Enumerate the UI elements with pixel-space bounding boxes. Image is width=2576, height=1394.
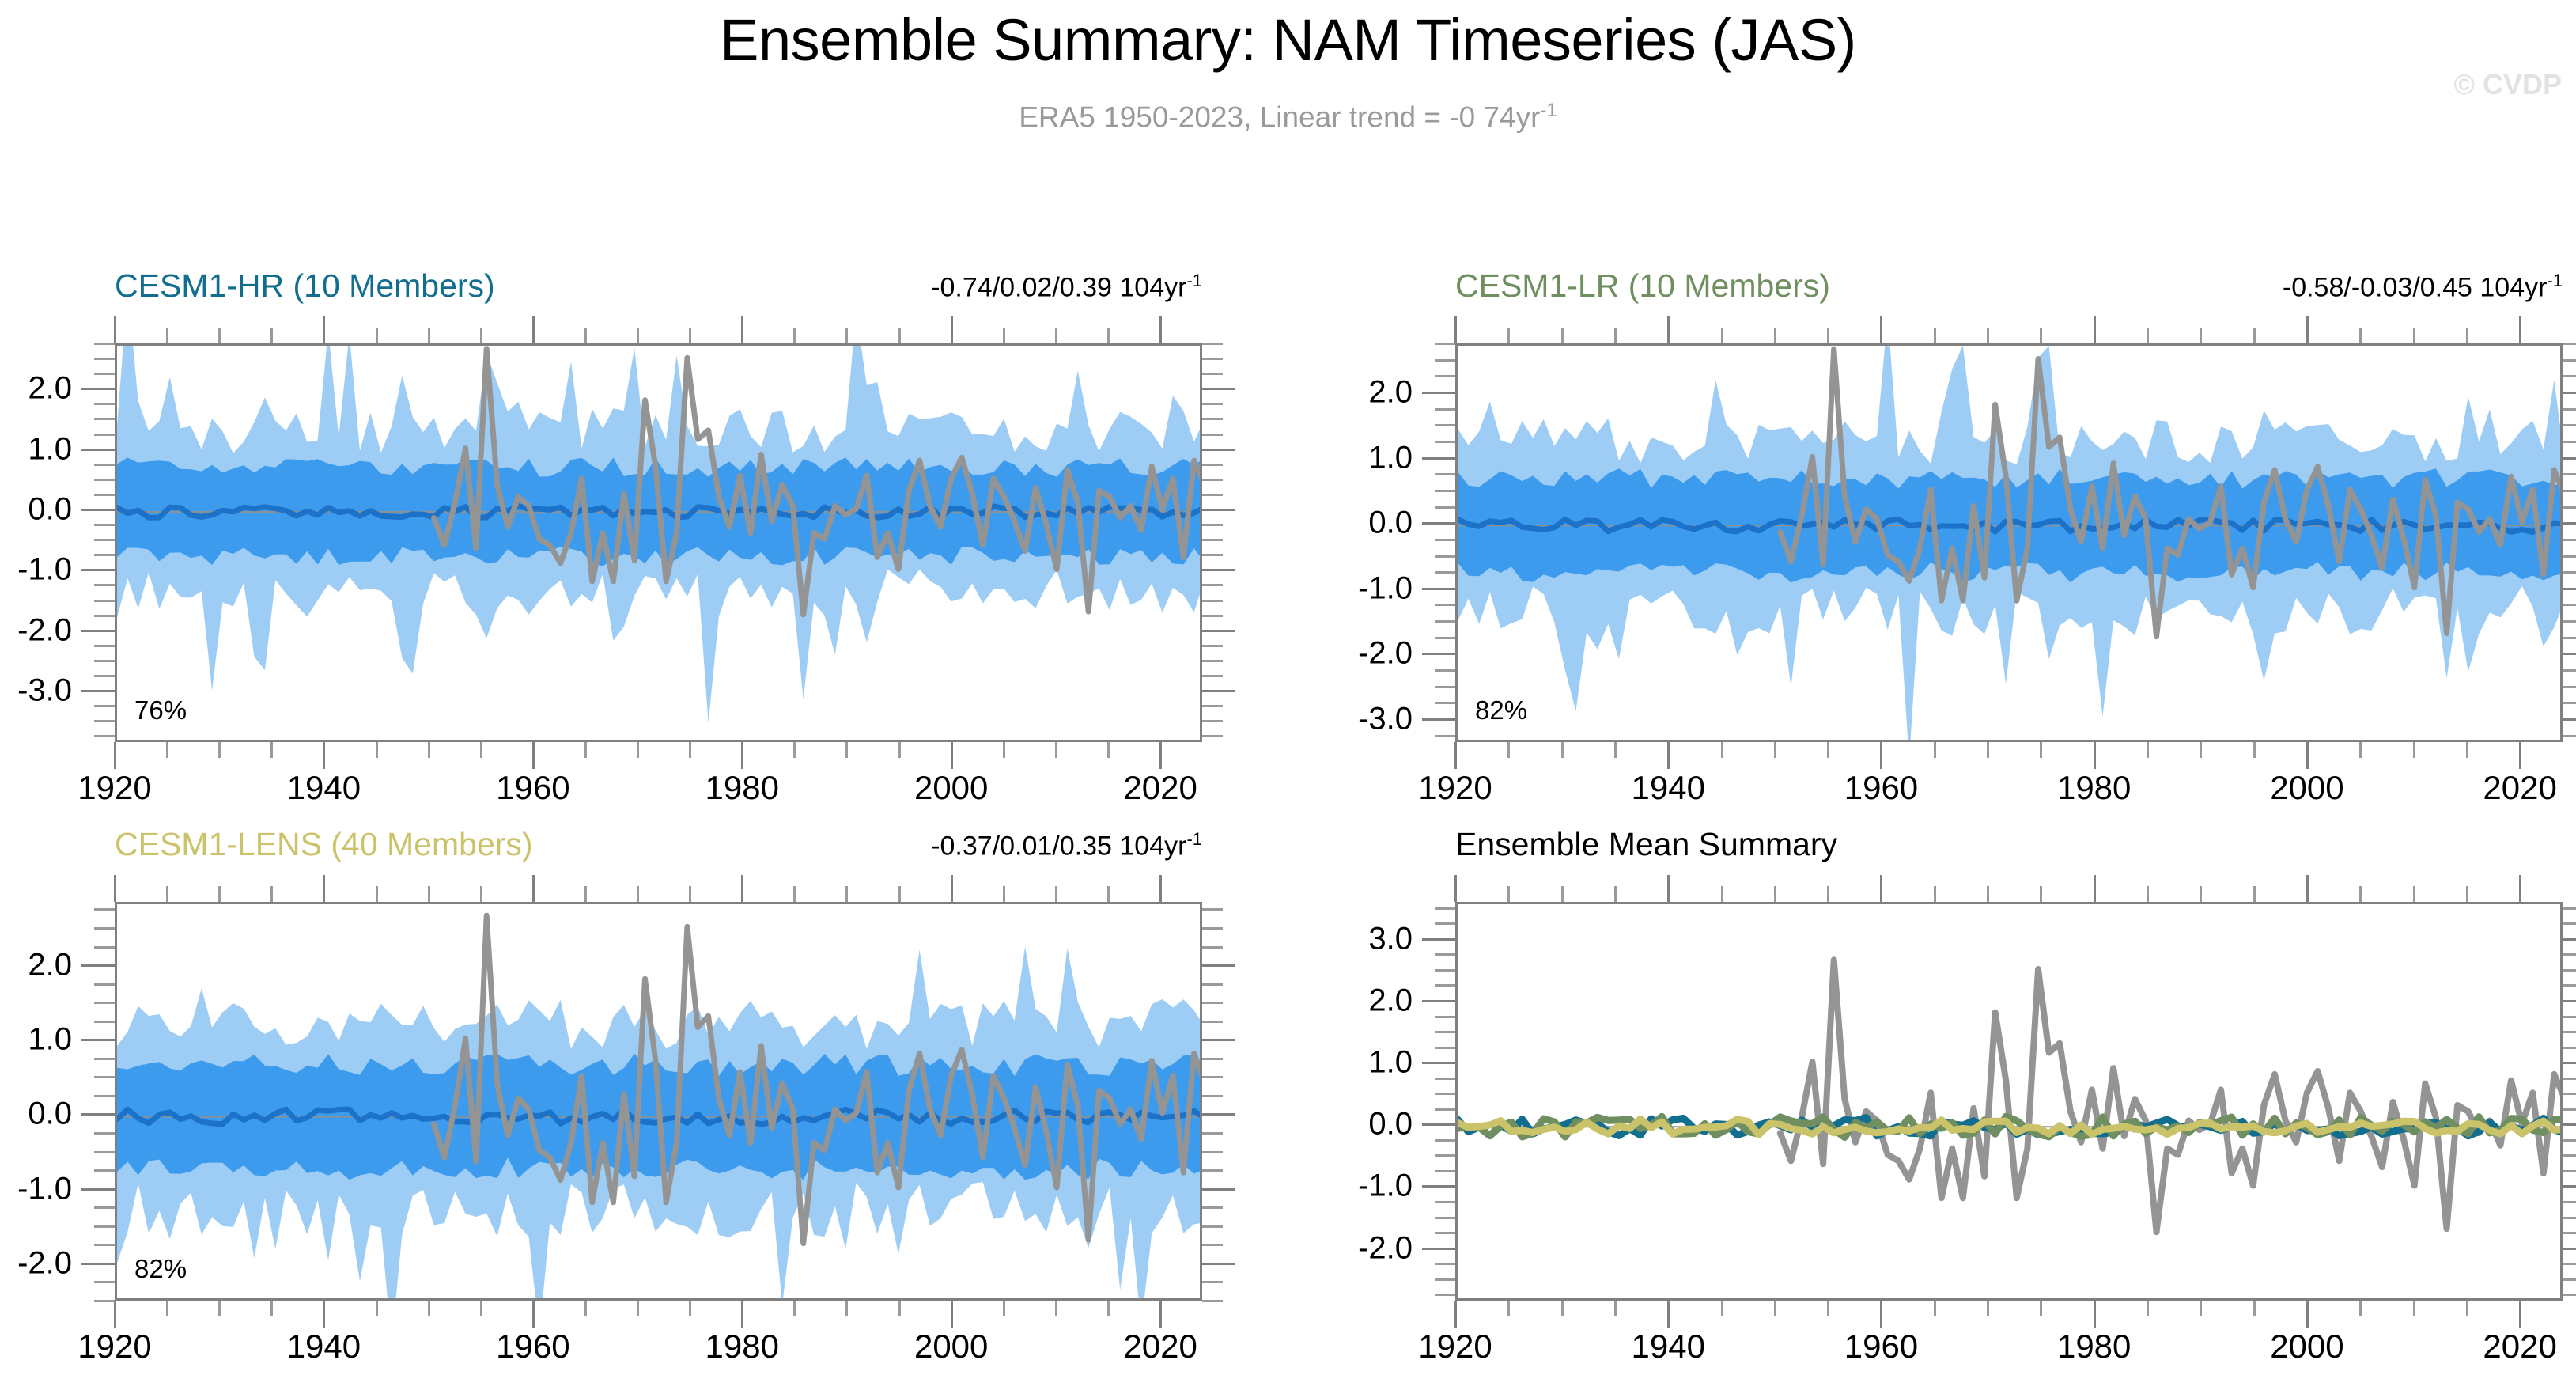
y-tick-label: 1.0 bbox=[1368, 1045, 1413, 1081]
y-tick-minor bbox=[94, 418, 115, 420]
x-tick-minor-top bbox=[2147, 328, 2149, 343]
x-tick-major-top bbox=[951, 316, 953, 343]
y-tick-minor bbox=[1435, 984, 1455, 987]
y-tick-minor-right bbox=[2563, 735, 2576, 737]
x-tick-minor bbox=[2253, 1301, 2256, 1316]
x-tick-minor-top bbox=[1561, 328, 1564, 343]
y-tick-minor-right bbox=[1202, 1058, 1223, 1060]
y-tick-major-right bbox=[1202, 1039, 1235, 1041]
y-tick-minor bbox=[94, 464, 115, 466]
x-axis-cesm1-hr: 192019401960198020002020 bbox=[115, 742, 1202, 821]
x-tick-major bbox=[532, 742, 535, 769]
y-tick-minor-right bbox=[1202, 373, 1223, 375]
y-tick-label: -2.0 bbox=[1358, 636, 1413, 672]
y-tick-major bbox=[1422, 1062, 1455, 1064]
plot-svg-cesm1-lens bbox=[117, 904, 1202, 1301]
y-axis-cesm1-lens: 2.01.00.0-1.0-2.0 bbox=[0, 902, 115, 1301]
y-tick-label: 3.0 bbox=[1368, 921, 1413, 956]
x-tick-minor-top bbox=[2413, 886, 2415, 902]
x-tick-major bbox=[323, 1301, 325, 1328]
y-tick-major-right bbox=[1202, 569, 1235, 571]
x-tick-label: 1920 bbox=[1418, 769, 1492, 807]
x-tick-major-top bbox=[323, 316, 325, 343]
y-tick-minor bbox=[1435, 571, 1455, 574]
y-tick-minor-right bbox=[2563, 620, 2576, 623]
y-tick-minor-right bbox=[2563, 907, 2576, 910]
x-tick-major bbox=[1880, 742, 1882, 769]
x-tick-minor-top bbox=[689, 328, 691, 343]
figure-subtitle-exponent: -1 bbox=[1540, 100, 1557, 121]
y-tick-minor bbox=[1435, 604, 1455, 606]
x-tick-minor-top bbox=[480, 328, 482, 343]
x-tick-minor-top bbox=[637, 886, 639, 902]
x-tick-minor bbox=[166, 1301, 168, 1316]
x-tick-minor-top bbox=[1055, 886, 1057, 902]
x-tick-minor bbox=[2147, 1301, 2149, 1316]
y-tick-minor-right bbox=[2563, 555, 2576, 558]
x-tick-major bbox=[1880, 1301, 1882, 1328]
y-tick-major-right bbox=[2563, 522, 2576, 525]
y-tick-major-right bbox=[2563, 1000, 2576, 1002]
y-tick-minor-right bbox=[1202, 464, 1223, 466]
x-tick-major-top bbox=[741, 875, 743, 902]
y-tick-major bbox=[1422, 457, 1455, 460]
y-tick-major-right bbox=[1202, 1113, 1235, 1116]
figure-title: Ensemble Summary: NAM Timeseries (JAS) bbox=[0, 6, 2576, 74]
x-axis-top-ensemble-mean-summary bbox=[1455, 873, 2563, 902]
y-tick-major-right bbox=[1202, 509, 1235, 511]
y-tick-minor bbox=[94, 645, 115, 647]
x-tick-minor bbox=[2466, 1301, 2468, 1316]
y-tick-minor-right bbox=[2563, 969, 2576, 972]
y-tick-minor bbox=[1435, 969, 1455, 972]
x-tick-minor bbox=[2147, 742, 2149, 758]
x-tick-major-top bbox=[1667, 875, 1670, 902]
x-tick-label: 1920 bbox=[78, 769, 151, 807]
x-tick-minor bbox=[898, 742, 901, 758]
x-tick-minor-top bbox=[2466, 886, 2468, 902]
x-tick-minor-top bbox=[218, 886, 221, 902]
y-tick-major-right bbox=[2563, 588, 2576, 590]
y-tick-major bbox=[81, 388, 115, 390]
panel-trend-cesm1-lens: -0.37/0.01/0.35 104yr-1 bbox=[931, 829, 1202, 862]
y-tick-minor-right bbox=[2563, 686, 2576, 688]
x-tick-minor bbox=[2040, 742, 2042, 758]
x-tick-minor bbox=[428, 742, 430, 758]
y-tick-minor bbox=[94, 908, 115, 911]
y-tick-minor bbox=[94, 675, 115, 677]
x-tick-label: 1920 bbox=[1418, 1328, 1492, 1366]
y-tick-label: 0.0 bbox=[1368, 506, 1413, 541]
y-tick-major bbox=[81, 630, 115, 632]
x-tick-major-top bbox=[1454, 875, 1457, 902]
y-axis-right-cesm1-hr bbox=[1202, 343, 1242, 742]
x-tick-minor-top bbox=[1987, 886, 1989, 902]
x-axis-ensemble-mean-summary: 192019401960198020002020 bbox=[1455, 1301, 2563, 1380]
x-tick-minor-top bbox=[1107, 886, 1110, 902]
y-tick-major bbox=[81, 690, 115, 692]
y-tick-minor bbox=[94, 615, 115, 617]
y-tick-major bbox=[1422, 653, 1455, 655]
y-tick-major bbox=[81, 449, 115, 451]
x-tick-major bbox=[2094, 1301, 2096, 1328]
y-tick-major bbox=[1422, 1248, 1455, 1250]
y-axis-right-cesm1-lens bbox=[1202, 902, 1242, 1301]
plot-svg-cesm1-hr bbox=[117, 346, 1202, 742]
obs-in-range-pct-cesm1-lr: 82% bbox=[1475, 695, 1527, 725]
y-tick-minor-right bbox=[1202, 1151, 1223, 1153]
x-tick-minor bbox=[1107, 742, 1110, 758]
x-tick-minor bbox=[1987, 1301, 1989, 1316]
x-tick-minor bbox=[1614, 1301, 1617, 1316]
y-tick-minor bbox=[1435, 1031, 1455, 1033]
y-tick-label: 2.0 bbox=[1368, 374, 1413, 410]
y-axis-right-ensemble-mean-summary bbox=[2563, 902, 2576, 1301]
x-tick-major bbox=[2519, 1301, 2521, 1328]
y-tick-minor bbox=[94, 600, 115, 602]
y-tick-minor-right bbox=[2563, 375, 2576, 377]
y-axis-cesm1-hr: 2.01.00.0-1.0-2.0-3.0 bbox=[0, 343, 115, 742]
y-tick-minor-right bbox=[1202, 343, 1223, 345]
x-tick-minor-top bbox=[1827, 886, 1829, 902]
y-tick-minor-right bbox=[2563, 1093, 2576, 1095]
x-tick-label: 1960 bbox=[496, 1328, 569, 1366]
y-tick-minor-right bbox=[1202, 418, 1223, 420]
y-tick-minor bbox=[94, 946, 115, 949]
y-tick-minor-right bbox=[2563, 1170, 2576, 1172]
x-tick-minor bbox=[2359, 1301, 2362, 1316]
y-tick-minor bbox=[94, 1002, 115, 1004]
x-tick-minor-top bbox=[428, 328, 430, 343]
y-tick-major-right bbox=[2563, 392, 2576, 394]
y-tick-minor-right bbox=[2563, 604, 2576, 606]
x-tick-major-top bbox=[323, 875, 325, 902]
x-tick-minor-top bbox=[1003, 886, 1005, 902]
x-tick-major bbox=[114, 742, 116, 769]
panel-trend-cesm1-lr: -0.58/-0.03/0.45 104yr-1 bbox=[2283, 271, 2563, 303]
x-tick-minor bbox=[1507, 1301, 1510, 1316]
x-tick-minor-top bbox=[1107, 328, 1110, 343]
y-tick-major bbox=[81, 569, 115, 571]
y-tick-minor-right bbox=[2563, 1108, 2576, 1111]
y-tick-major-right bbox=[2563, 457, 2576, 460]
x-tick-minor bbox=[845, 742, 848, 758]
y-tick-minor-right bbox=[2563, 490, 2576, 492]
y-tick-major bbox=[1422, 1185, 1455, 1188]
x-tick-minor bbox=[1614, 742, 1617, 758]
x-tick-minor bbox=[1774, 1301, 1776, 1316]
y-tick-minor-right bbox=[1202, 927, 1223, 930]
x-tick-minor bbox=[2200, 1301, 2202, 1316]
y-tick-major-right bbox=[1202, 388, 1235, 390]
x-tick-minor bbox=[689, 742, 691, 758]
observation-line-era5 bbox=[1780, 960, 2563, 1232]
x-tick-minor-top bbox=[1055, 328, 1057, 343]
y-tick-minor bbox=[94, 705, 115, 707]
x-tick-minor-top bbox=[584, 328, 587, 343]
y-tick-minor-right bbox=[2563, 637, 2576, 639]
y-tick-label: 0.0 bbox=[1368, 1107, 1413, 1142]
y-tick-minor bbox=[1435, 1232, 1455, 1234]
y-tick-minor bbox=[1435, 1139, 1455, 1142]
y-tick-label: 1.0 bbox=[28, 431, 72, 467]
y-tick-major-right bbox=[1202, 1263, 1235, 1265]
x-tick-minor-top bbox=[428, 886, 430, 902]
x-tick-minor-top bbox=[1721, 886, 1723, 902]
x-tick-label: 1980 bbox=[705, 769, 779, 807]
x-axis-top-cesm1-hr bbox=[115, 315, 1202, 343]
x-tick-label: 1920 bbox=[78, 1328, 151, 1366]
y-tick-minor bbox=[1435, 620, 1455, 623]
y-tick-minor bbox=[1435, 1170, 1455, 1172]
y-tick-minor-right bbox=[1202, 645, 1223, 647]
panel-trend-exponent: -1 bbox=[1186, 271, 1202, 290]
x-tick-major-top bbox=[1454, 316, 1457, 343]
x-tick-label: 1960 bbox=[1844, 769, 1918, 807]
y-tick-minor-right bbox=[1202, 1002, 1223, 1004]
y-tick-minor-right bbox=[2563, 669, 2576, 672]
y-axis-cesm1-lr: 2.01.00.0-1.0-2.0-3.0 bbox=[1337, 343, 1455, 742]
x-tick-minor bbox=[1827, 742, 1829, 758]
y-tick-major bbox=[81, 509, 115, 511]
y-tick-minor bbox=[94, 720, 115, 722]
y-tick-minor bbox=[1435, 408, 1455, 411]
x-tick-minor-top bbox=[845, 886, 848, 902]
y-tick-minor bbox=[1435, 1047, 1455, 1049]
panel-title-cesm1-hr: CESM1-HR (10 Members) bbox=[115, 267, 495, 305]
y-tick-minor bbox=[1435, 539, 1455, 541]
x-tick-major-top bbox=[1667, 316, 1670, 343]
cvdp-watermark: © CVDP bbox=[2453, 68, 2562, 101]
y-tick-major-right bbox=[2563, 653, 2576, 655]
panel-title-cesm1-lens: CESM1-LENS (40 Members) bbox=[115, 826, 533, 863]
y-tick-minor-right bbox=[2563, 1154, 2576, 1157]
y-tick-minor bbox=[94, 1300, 115, 1302]
panel-trend-value: -0.74/0.02/0.39 104yr bbox=[931, 272, 1186, 302]
x-tick-label: 1940 bbox=[1632, 1328, 1705, 1366]
y-tick-minor-right bbox=[1202, 358, 1223, 360]
y-tick-label: 0.0 bbox=[28, 492, 72, 528]
y-tick-minor bbox=[1435, 441, 1455, 443]
y-tick-minor-right bbox=[2563, 408, 2576, 411]
x-tick-major-top bbox=[1159, 875, 1162, 902]
x-tick-label: 2000 bbox=[914, 769, 988, 807]
x-tick-major-top bbox=[532, 316, 535, 343]
x-tick-major-top bbox=[2519, 316, 2521, 343]
y-tick-minor-right bbox=[1202, 705, 1223, 707]
y-tick-minor-right bbox=[2563, 1278, 2576, 1281]
y-tick-minor bbox=[94, 983, 115, 986]
x-tick-minor bbox=[1934, 1301, 1936, 1316]
x-tick-minor-top bbox=[1774, 886, 1776, 902]
y-tick-major bbox=[1422, 1123, 1455, 1126]
y-tick-label: -3.0 bbox=[17, 673, 72, 709]
y-axis-right-cesm1-lr bbox=[2563, 343, 2576, 742]
x-tick-major-top bbox=[2306, 316, 2309, 343]
x-tick-minor bbox=[1987, 742, 1989, 758]
x-tick-minor bbox=[218, 742, 221, 758]
x-tick-major bbox=[2306, 1301, 2309, 1328]
y-tick-minor-right bbox=[2563, 1031, 2576, 1033]
x-tick-minor-top bbox=[689, 886, 691, 902]
x-tick-major-top bbox=[114, 875, 116, 902]
y-tick-label: 1.0 bbox=[28, 1022, 72, 1058]
x-tick-minor-top bbox=[1827, 328, 1829, 343]
x-tick-label: 2020 bbox=[2483, 1328, 2556, 1366]
x-tick-minor bbox=[1003, 742, 1005, 758]
y-tick-major-right bbox=[2563, 1185, 2576, 1188]
x-axis-cesm1-lr: 192019401960198020002020 bbox=[1455, 742, 2563, 821]
x-tick-minor-top bbox=[898, 886, 901, 902]
x-tick-minor bbox=[584, 742, 587, 758]
y-tick-minor-right bbox=[2563, 922, 2576, 925]
y-tick-minor bbox=[94, 343, 115, 345]
y-tick-minor bbox=[1435, 473, 1455, 475]
x-tick-label: 1940 bbox=[287, 769, 361, 807]
y-tick-minor bbox=[94, 584, 115, 586]
y-axis-ensemble-mean-summary: 3.02.01.00.0-1.0-2.0 bbox=[1337, 902, 1455, 1301]
y-tick-minor-right bbox=[2563, 1139, 2576, 1142]
y-tick-minor-right bbox=[2563, 424, 2576, 426]
x-tick-minor-top bbox=[637, 328, 639, 343]
y-tick-minor bbox=[94, 1076, 115, 1078]
x-tick-major bbox=[1667, 742, 1670, 769]
x-tick-minor bbox=[845, 1301, 848, 1316]
x-tick-minor bbox=[637, 1301, 639, 1316]
x-tick-minor bbox=[2359, 742, 2362, 758]
y-tick-label: -2.0 bbox=[1358, 1230, 1413, 1266]
y-tick-minor bbox=[94, 403, 115, 405]
plot-area-cesm1-lens: 82% bbox=[115, 902, 1202, 1301]
y-tick-major bbox=[81, 1113, 115, 1116]
y-tick-minor bbox=[94, 494, 115, 496]
x-tick-major bbox=[741, 1301, 743, 1328]
y-tick-major bbox=[81, 1188, 115, 1191]
x-tick-major bbox=[2519, 742, 2521, 769]
x-tick-minor-top bbox=[1507, 886, 1510, 902]
x-tick-major bbox=[1159, 1301, 1162, 1328]
y-tick-minor bbox=[1435, 375, 1455, 377]
y-tick-minor bbox=[1435, 1154, 1455, 1157]
y-tick-minor bbox=[94, 1244, 115, 1246]
x-tick-minor bbox=[2413, 1301, 2415, 1316]
x-tick-minor-top bbox=[218, 328, 221, 343]
x-tick-major-top bbox=[114, 316, 116, 343]
panel-trend-value: -0.37/0.01/0.35 104yr bbox=[931, 831, 1186, 861]
x-tick-label: 1980 bbox=[2057, 1328, 2131, 1366]
x-tick-minor bbox=[2413, 742, 2415, 758]
y-tick-major bbox=[1422, 522, 1455, 525]
y-tick-minor bbox=[1435, 953, 1455, 956]
plot-area-ensemble-mean-summary bbox=[1455, 902, 2563, 1301]
x-tick-minor-top bbox=[2200, 886, 2202, 902]
x-tick-minor bbox=[2040, 1301, 2042, 1316]
y-tick-minor-right bbox=[1202, 735, 1223, 737]
x-tick-minor bbox=[2253, 742, 2256, 758]
x-tick-label: 1960 bbox=[1844, 1328, 1918, 1366]
x-tick-minor-top bbox=[166, 328, 168, 343]
y-tick-minor-right bbox=[2563, 506, 2576, 509]
plot-svg-cesm1-lr bbox=[1458, 346, 2563, 742]
y-tick-minor-right bbox=[2563, 1078, 2576, 1080]
y-tick-minor bbox=[1435, 1278, 1455, 1281]
obs-in-range-pct-cesm1-lens: 82% bbox=[134, 1254, 187, 1284]
x-tick-minor bbox=[1055, 742, 1057, 758]
y-tick-minor-right bbox=[1202, 524, 1223, 526]
y-tick-minor bbox=[94, 1206, 115, 1209]
x-tick-minor bbox=[1107, 1301, 1110, 1316]
x-tick-major-top bbox=[1159, 316, 1162, 343]
x-tick-major-top bbox=[532, 875, 535, 902]
y-tick-minor-right bbox=[1202, 675, 1223, 677]
x-tick-minor bbox=[270, 1301, 273, 1316]
x-tick-label: 1960 bbox=[496, 769, 569, 807]
y-tick-minor-right bbox=[2563, 984, 2576, 987]
x-tick-minor-top bbox=[1987, 328, 1989, 343]
x-tick-minor bbox=[376, 1301, 378, 1316]
y-tick-major-right bbox=[2563, 1123, 2576, 1126]
y-tick-major bbox=[1422, 718, 1455, 721]
x-tick-minor-top bbox=[1721, 328, 1723, 343]
x-tick-minor-top bbox=[2200, 328, 2202, 343]
y-tick-minor-right bbox=[2563, 539, 2576, 541]
y-tick-minor bbox=[1435, 1016, 1455, 1018]
x-tick-minor bbox=[428, 1301, 430, 1316]
panel-trend-exponent: -1 bbox=[2547, 271, 2563, 290]
y-tick-minor bbox=[1435, 907, 1455, 910]
x-tick-major-top bbox=[2306, 875, 2309, 902]
y-tick-minor-right bbox=[2563, 343, 2576, 345]
x-tick-major bbox=[114, 1301, 116, 1328]
y-tick-label: 2.0 bbox=[28, 371, 72, 407]
x-tick-major-top bbox=[1880, 875, 1882, 902]
x-tick-label: 1980 bbox=[2057, 769, 2131, 807]
y-tick-minor bbox=[1435, 1093, 1455, 1095]
x-tick-minor bbox=[270, 742, 273, 758]
y-tick-major bbox=[1422, 1000, 1455, 1002]
x-tick-minor bbox=[218, 1301, 221, 1316]
y-tick-minor-right bbox=[1202, 1300, 1223, 1302]
x-axis-top-cesm1-lr bbox=[1455, 315, 2563, 343]
x-tick-minor-top bbox=[898, 328, 901, 343]
figure-subtitle-text: ERA5 1950-2023, Linear trend = -0 74yr bbox=[1019, 100, 1540, 133]
y-tick-minor bbox=[94, 434, 115, 436]
x-tick-label: 2000 bbox=[914, 1328, 988, 1366]
y-tick-major bbox=[81, 1039, 115, 1041]
y-tick-minor-right bbox=[1202, 1021, 1223, 1023]
x-tick-major-top bbox=[2519, 875, 2521, 902]
x-tick-minor bbox=[1721, 742, 1723, 758]
y-tick-minor bbox=[94, 1151, 115, 1153]
x-tick-minor bbox=[1561, 1301, 1564, 1316]
x-tick-minor-top bbox=[1614, 328, 1617, 343]
x-tick-major bbox=[2306, 742, 2309, 769]
y-tick-major bbox=[1422, 938, 1455, 941]
y-tick-minor bbox=[94, 358, 115, 360]
y-tick-label: 0.0 bbox=[28, 1097, 72, 1132]
y-tick-minor bbox=[1435, 343, 1455, 345]
x-tick-minor bbox=[2466, 742, 2468, 758]
y-tick-minor bbox=[94, 1021, 115, 1023]
x-tick-minor bbox=[637, 742, 639, 758]
y-tick-label: -2.0 bbox=[17, 612, 72, 648]
x-tick-major bbox=[532, 1301, 535, 1328]
y-tick-minor bbox=[1435, 922, 1455, 925]
y-tick-minor bbox=[1435, 1263, 1455, 1265]
x-tick-minor-top bbox=[793, 328, 796, 343]
y-tick-minor bbox=[1435, 1294, 1455, 1296]
y-tick-minor-right bbox=[2563, 1263, 2576, 1265]
